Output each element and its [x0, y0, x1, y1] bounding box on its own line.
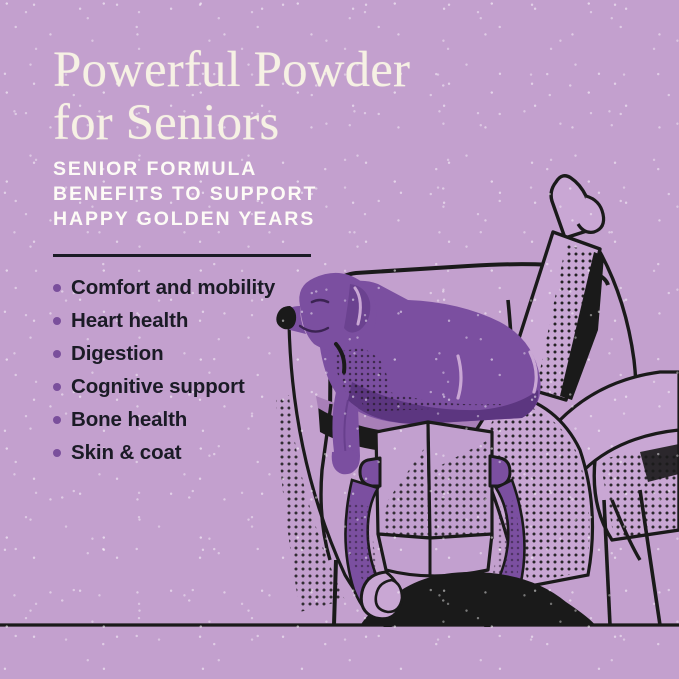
list-item: Cognitive support: [53, 372, 523, 402]
bullet-dot-icon: [53, 416, 61, 424]
bullet-dot-icon: [53, 350, 61, 358]
benefit-label: Cognitive support: [71, 372, 245, 402]
benefit-label: Skin & coat: [71, 438, 182, 468]
list-item: Heart health: [53, 306, 523, 336]
divider: [53, 254, 311, 257]
list-item: Bone health: [53, 405, 523, 435]
bullet-dot-icon: [53, 383, 61, 391]
page-title: Powerful Powder for Seniors: [53, 44, 523, 150]
benefit-label: Digestion: [71, 339, 164, 369]
benefits-list: Comfort and mobility Heart health Digest…: [53, 273, 523, 468]
copy-block: Powerful Powder for Seniors SENIOR FORMU…: [53, 44, 523, 471]
list-item: Skin & coat: [53, 438, 523, 468]
bullet-dot-icon: [53, 449, 61, 457]
benefit-label: Bone health: [71, 405, 187, 435]
subtitle: SENIOR FORMULA BENEFITS TO SUPPORT HAPPY…: [53, 157, 523, 232]
list-item: Digestion: [53, 339, 523, 369]
benefit-label: Heart health: [71, 306, 188, 336]
bullet-dot-icon: [53, 317, 61, 325]
bullet-dot-icon: [53, 284, 61, 292]
list-item: Comfort and mobility: [53, 273, 523, 303]
benefit-label: Comfort and mobility: [71, 273, 275, 303]
promo-poster: Powerful Powder for Seniors SENIOR FORMU…: [0, 0, 679, 679]
